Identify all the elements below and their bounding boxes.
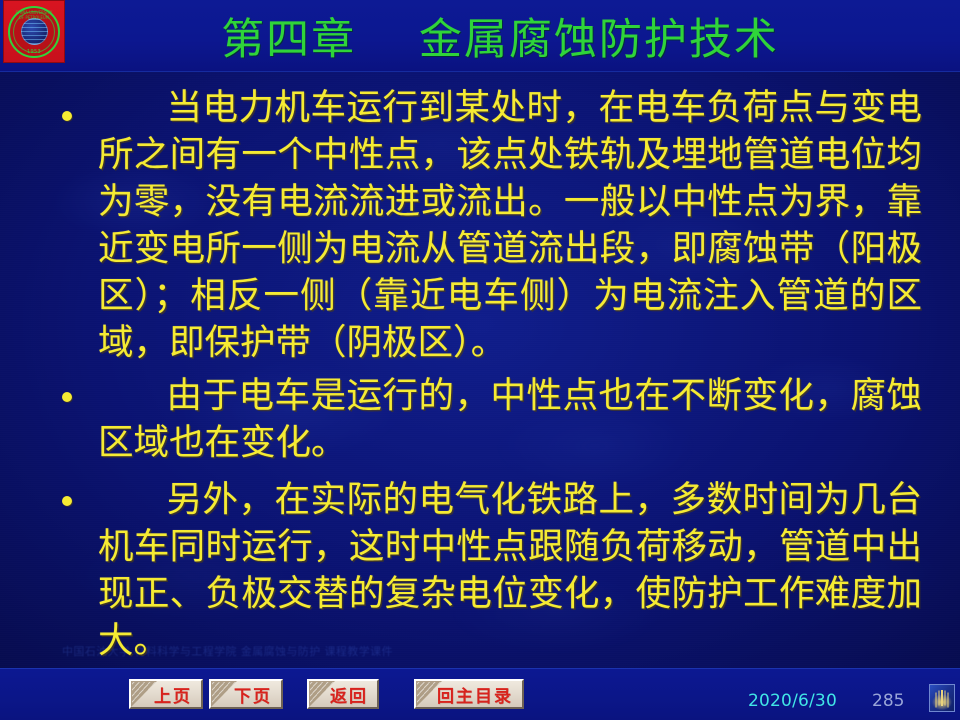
page-title: 第四章 金属腐蚀防护技术	[0, 0, 960, 72]
page-number: 285	[872, 691, 904, 711]
return-button-label: 返回	[330, 682, 368, 707]
lamp-emblem-icon	[929, 684, 955, 712]
return-button[interactable]: 返回	[307, 679, 379, 709]
next-page-button[interactable]: 下页	[209, 679, 283, 709]
slide-root: 中国石油大学 材料科学与工程学院 金属腐蚀与防护 课程教学课件 CHINA UN…	[0, 0, 960, 720]
next-page-button-label: 下页	[234, 682, 272, 707]
bullet-paragraph: 另外，在实际的电气化铁路上，多数时间为几台机车同时运行，这时中性点跟随负荷移动，…	[0, 476, 960, 664]
bullet-text: 当电力机车运行到某处时，在电车负荷点与变电所之间有一个中性点，该点处铁轨及埋地管…	[98, 87, 922, 363]
main-menu-button-label: 回主目录	[437, 682, 513, 707]
bullet-text: 另外，在实际的电气化铁路上，多数时间为几台机车同时运行，这时中性点跟随负荷移动，…	[98, 479, 922, 661]
footer-date: 2020/6/30	[748, 691, 837, 711]
bullet-paragraph: 当电力机车运行到某处时，在电车负荷点与变电所之间有一个中性点，该点处铁轨及埋地管…	[0, 84, 960, 366]
slide-body: 当电力机车运行到某处时，在电车负荷点与变电所之间有一个中性点，该点处铁轨及埋地管…	[0, 72, 960, 668]
prev-page-button-label: 上页	[154, 682, 192, 707]
bullet-dot-icon	[62, 392, 72, 402]
bullet-paragraph: 由于电车是运行的，中性点也在不断变化，腐蚀区域也在变化。	[0, 372, 960, 466]
prev-page-button[interactable]: 上页	[129, 679, 203, 709]
bullet-dot-icon	[62, 496, 72, 506]
bullet-dot-icon	[62, 111, 72, 121]
main-menu-button[interactable]: 回主目录	[414, 679, 524, 709]
bullet-text: 由于电车是运行的，中性点也在不断变化，腐蚀区域也在变化。	[98, 375, 922, 463]
